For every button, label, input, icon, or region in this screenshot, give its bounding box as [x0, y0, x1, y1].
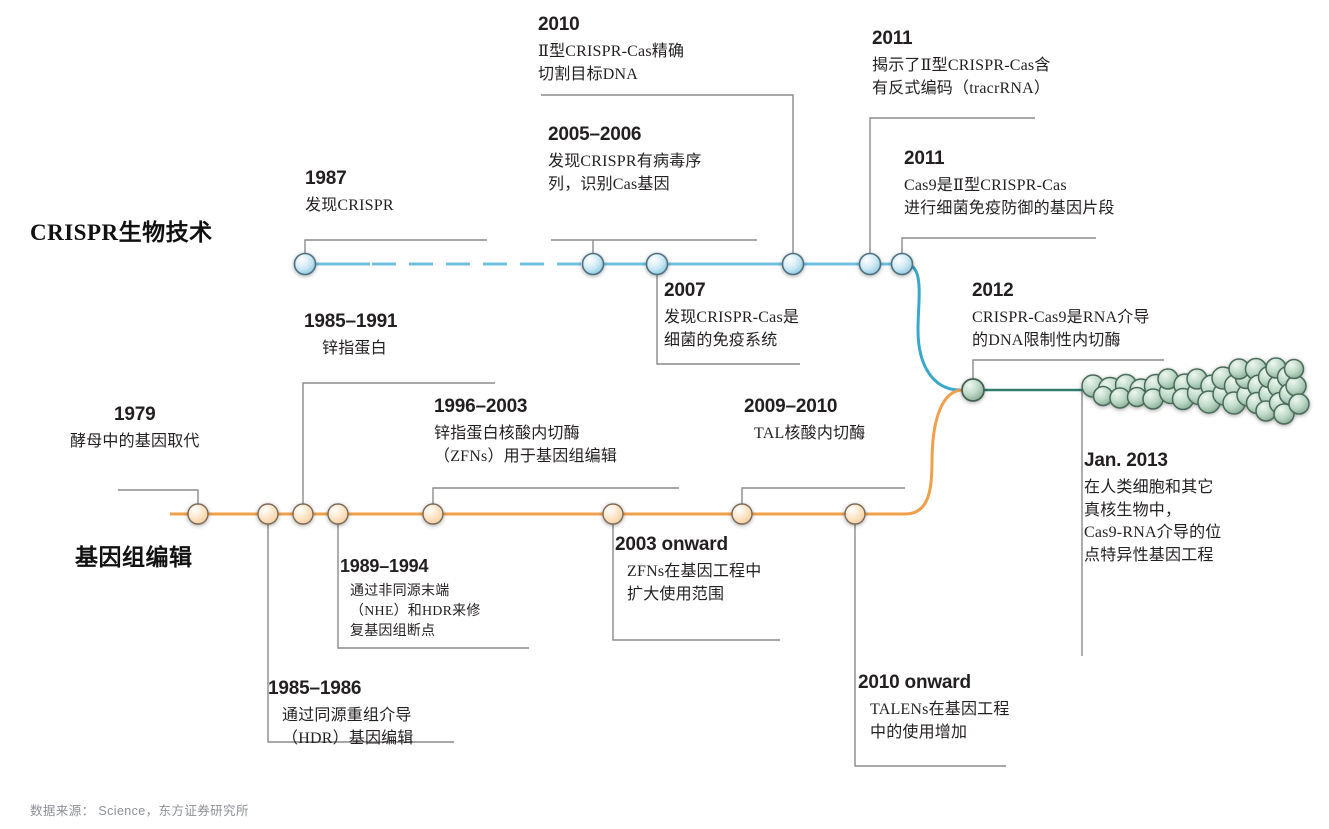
connector-1996-2003	[433, 488, 679, 514]
node-2010	[783, 254, 804, 275]
crispr-rail	[305, 264, 960, 390]
node-2011-tracr	[860, 254, 881, 275]
event-1985-1991: 1985–1991 锌指蛋白	[304, 311, 397, 361]
event-2003-onward: 2003 onward ZFNs在基因工程中 扩大使用范围	[615, 534, 761, 606]
cell-cluster	[1082, 358, 1309, 424]
event-1996-2003: 1996–2003 锌指蛋白核酸内切酶 （ZFNs）用于基因组编辑	[434, 396, 617, 468]
connector-1987	[305, 240, 487, 264]
event-2012: 2012 CRISPR-Cas9是RNA介导 的DNA限制性内切酶	[972, 280, 1150, 352]
event-2011-tracr: 2011 揭示了Ⅱ型CRISPR-Cas含 有反式编码（tracrRNA）	[872, 28, 1051, 100]
node-2012	[962, 379, 984, 401]
event-2005-2006: 2005–2006 发现CRISPR有病毒序 列，识别Cas基因	[548, 124, 702, 196]
event-1989-1994: 1989–1994 通过非同源末端 （NHE）和HDR来修 复基因组断点	[340, 556, 481, 642]
event-2011-cas9: 2011 Cas9是Ⅱ型CRISPR-Cas 进行细菌免疫防御的基因片段	[904, 148, 1115, 220]
event-2007: 2007 发现CRISPR-Cas是 细菌的免疫系统	[664, 280, 799, 352]
node-1985-1986	[258, 504, 278, 524]
connector-1979	[118, 490, 198, 514]
node-1989-1994	[328, 504, 348, 524]
timeline-diagram: CRISPR生物技术 基因组编辑 1987 发现CRISPR 2005–2006…	[0, 0, 1329, 829]
event-2009-2010: 2009–2010 TAL核酸内切酶	[744, 396, 865, 446]
node-2009-2010	[732, 504, 752, 524]
node-2003-onward	[603, 504, 623, 524]
event-1985-1986: 1985–1986 通过同源重组介导 （HDR）基因编辑	[268, 678, 414, 750]
merged-node	[962, 379, 984, 401]
event-2010-onward: 2010 onward TALENs在基因工程 中的使用增加	[858, 672, 1010, 744]
node-2007	[647, 254, 668, 275]
source-note: 数据来源： Science，东方证券研究所	[30, 800, 249, 819]
event-1987: 1987 发现CRISPR	[305, 168, 394, 218]
event-2010: 2010 Ⅱ型CRISPR-Cas精确 切割目标DNA	[538, 14, 684, 86]
node-2011-cas9	[892, 254, 913, 275]
event-1979: 1979 酵母中的基因取代	[70, 404, 200, 454]
connector-2011-cas9	[902, 238, 1096, 264]
axis-title-crispr: CRISPR生物技术	[30, 213, 213, 247]
node-1985-1991	[293, 504, 313, 524]
event-jan-2013: Jan. 2013 在人类细胞和其它 真核生物中， Cas9-RNA介导的位 点…	[1084, 450, 1222, 568]
node-1979	[188, 504, 208, 524]
connector-2009-2010	[742, 488, 905, 514]
node-2010-onward	[845, 504, 865, 524]
axis-title-genome: 基因组编辑	[75, 538, 193, 572]
node-2005-2006	[583, 254, 604, 275]
node-1987	[295, 254, 316, 275]
node-1996-2003	[423, 504, 443, 524]
